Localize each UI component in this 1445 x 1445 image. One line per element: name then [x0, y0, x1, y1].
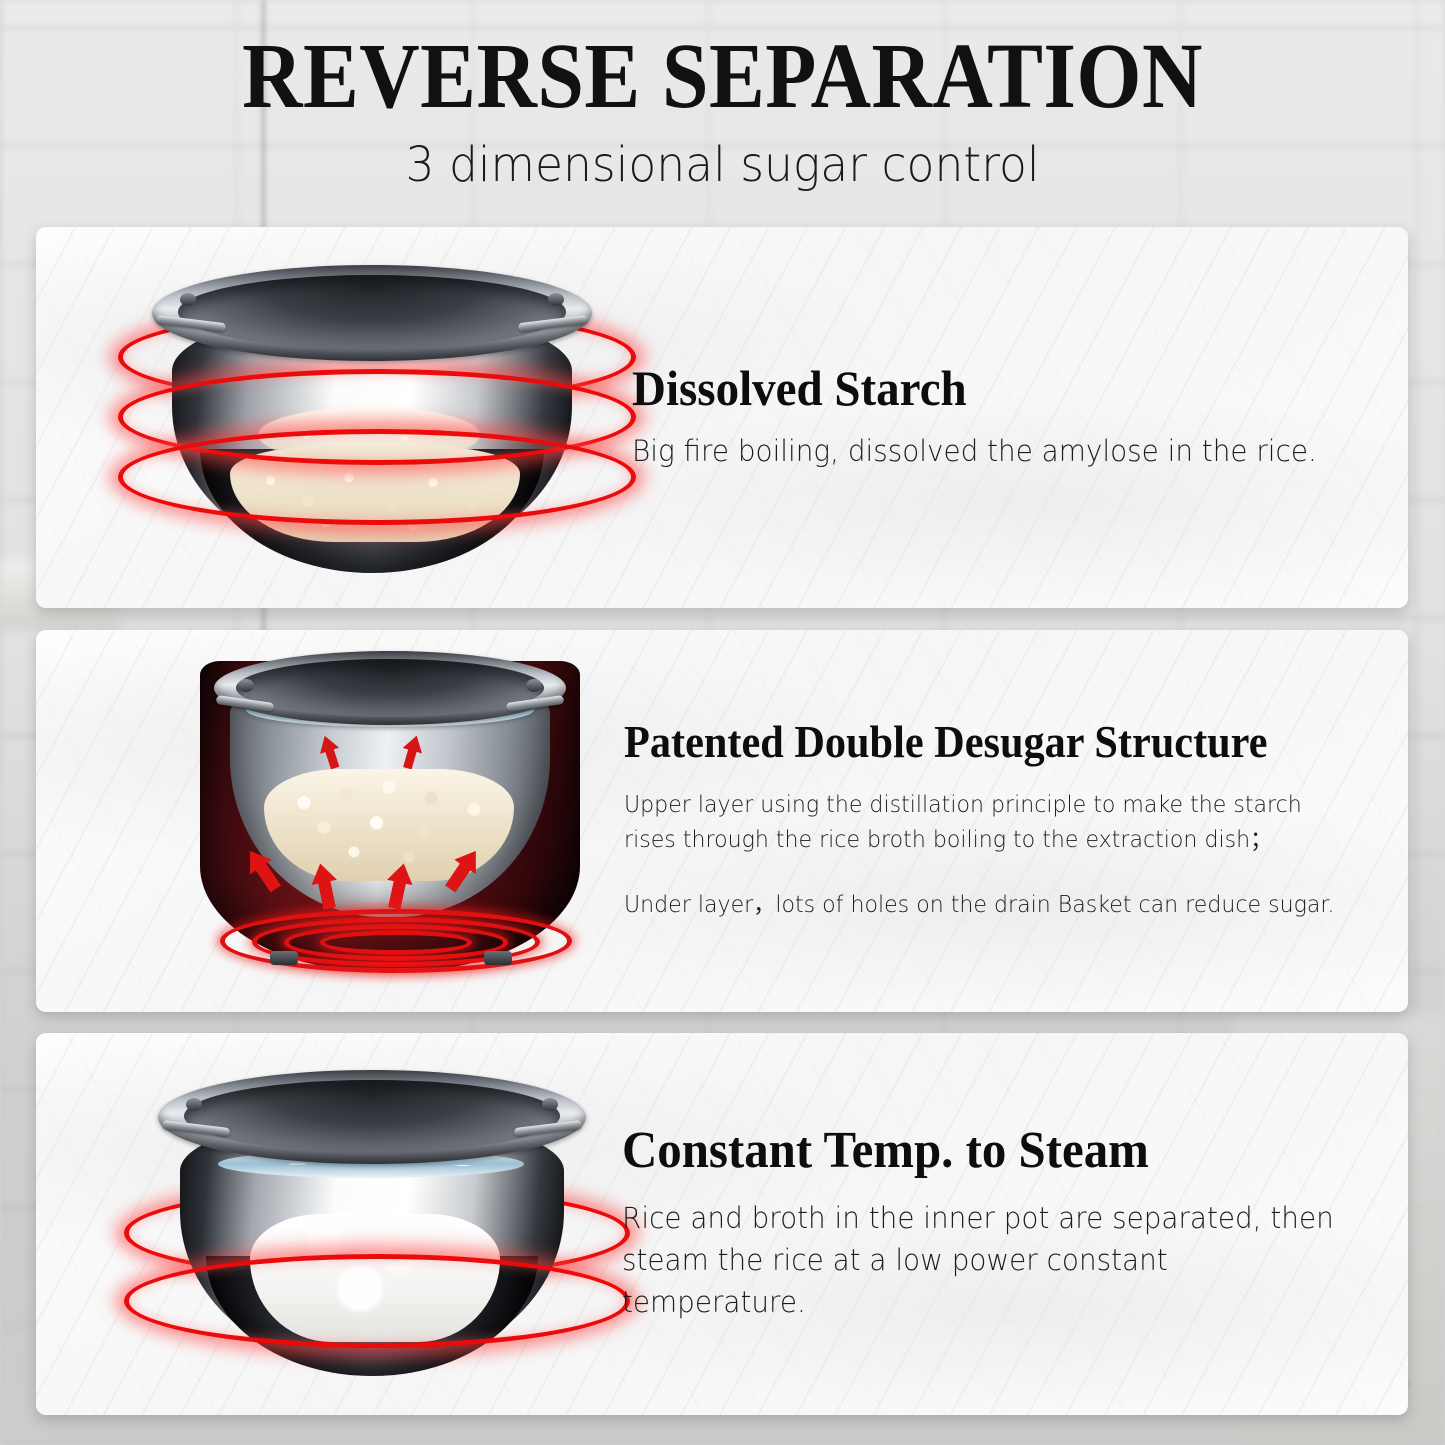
- card-copy: Constant Temp. to Steam Rice and broth i…: [622, 1124, 1408, 1323]
- inner-pot-with-heat-rings-illustration: [112, 253, 632, 583]
- feature-card-double-desugar: Patented Double Desugar Structure Upper …: [36, 630, 1408, 1012]
- feature-card-dissolved-starch: Dissolved Starch Big fire boiling, disso…: [36, 227, 1408, 608]
- pot-rim-interior: [184, 1080, 560, 1152]
- feature-card-constant-temp: Constant Temp. to Steam Rice and broth i…: [36, 1033, 1408, 1415]
- pot-lug-right: [526, 679, 542, 692]
- cooker-foot-right: [484, 951, 512, 965]
- pot-rim-interior: [178, 275, 566, 349]
- card-heading: Constant Temp. to Steam: [622, 1124, 1323, 1178]
- pot-lug-left: [180, 293, 196, 306]
- card-heading: Patented Double Desugar Structure: [624, 719, 1323, 766]
- card-copy: Dissolved Starch Big fire boiling, disso…: [632, 362, 1408, 472]
- rice-mound: [264, 769, 514, 881]
- card-copy: Patented Double Desugar Structure Upper …: [624, 719, 1408, 923]
- heat-ring-icon: [124, 1254, 630, 1348]
- card-heading: Dissolved Starch: [632, 362, 1324, 414]
- infographic-stage: REVERSE SEPARATION 3 dimensional sugar c…: [0, 0, 1445, 1445]
- pot-lug-right: [542, 1098, 558, 1111]
- card-paragraph: Upper layer using the distillation princ…: [624, 788, 1338, 858]
- inner-pot-steamed-rice-illustration: [122, 1054, 622, 1394]
- card-paragraph: Rice and broth in the inner pot are sepa…: [622, 1197, 1338, 1324]
- card-paragraph: Big fire boiling, dissolved the amylose …: [632, 430, 1339, 472]
- heating-coil-icon: [320, 930, 472, 955]
- cooker-rim-interior: [236, 659, 544, 717]
- page-title: REVERSE SEPARATION: [72, 30, 1373, 125]
- card-paragraph: Under layer，lots of holes on the drain B…: [624, 888, 1338, 923]
- header: REVERSE SEPARATION 3 dimensional sugar c…: [0, 30, 1445, 192]
- page-subtitle: 3 dimensional sugar control: [36, 139, 1409, 192]
- pot-lug-left: [238, 679, 254, 692]
- heat-ring-icon: [118, 429, 636, 525]
- pot-lug-right: [548, 293, 564, 306]
- cooker-foot-left: [270, 951, 298, 965]
- pot-lug-left: [186, 1098, 202, 1111]
- cutaway-cooker-with-heating-coil-illustration: [154, 651, 624, 991]
